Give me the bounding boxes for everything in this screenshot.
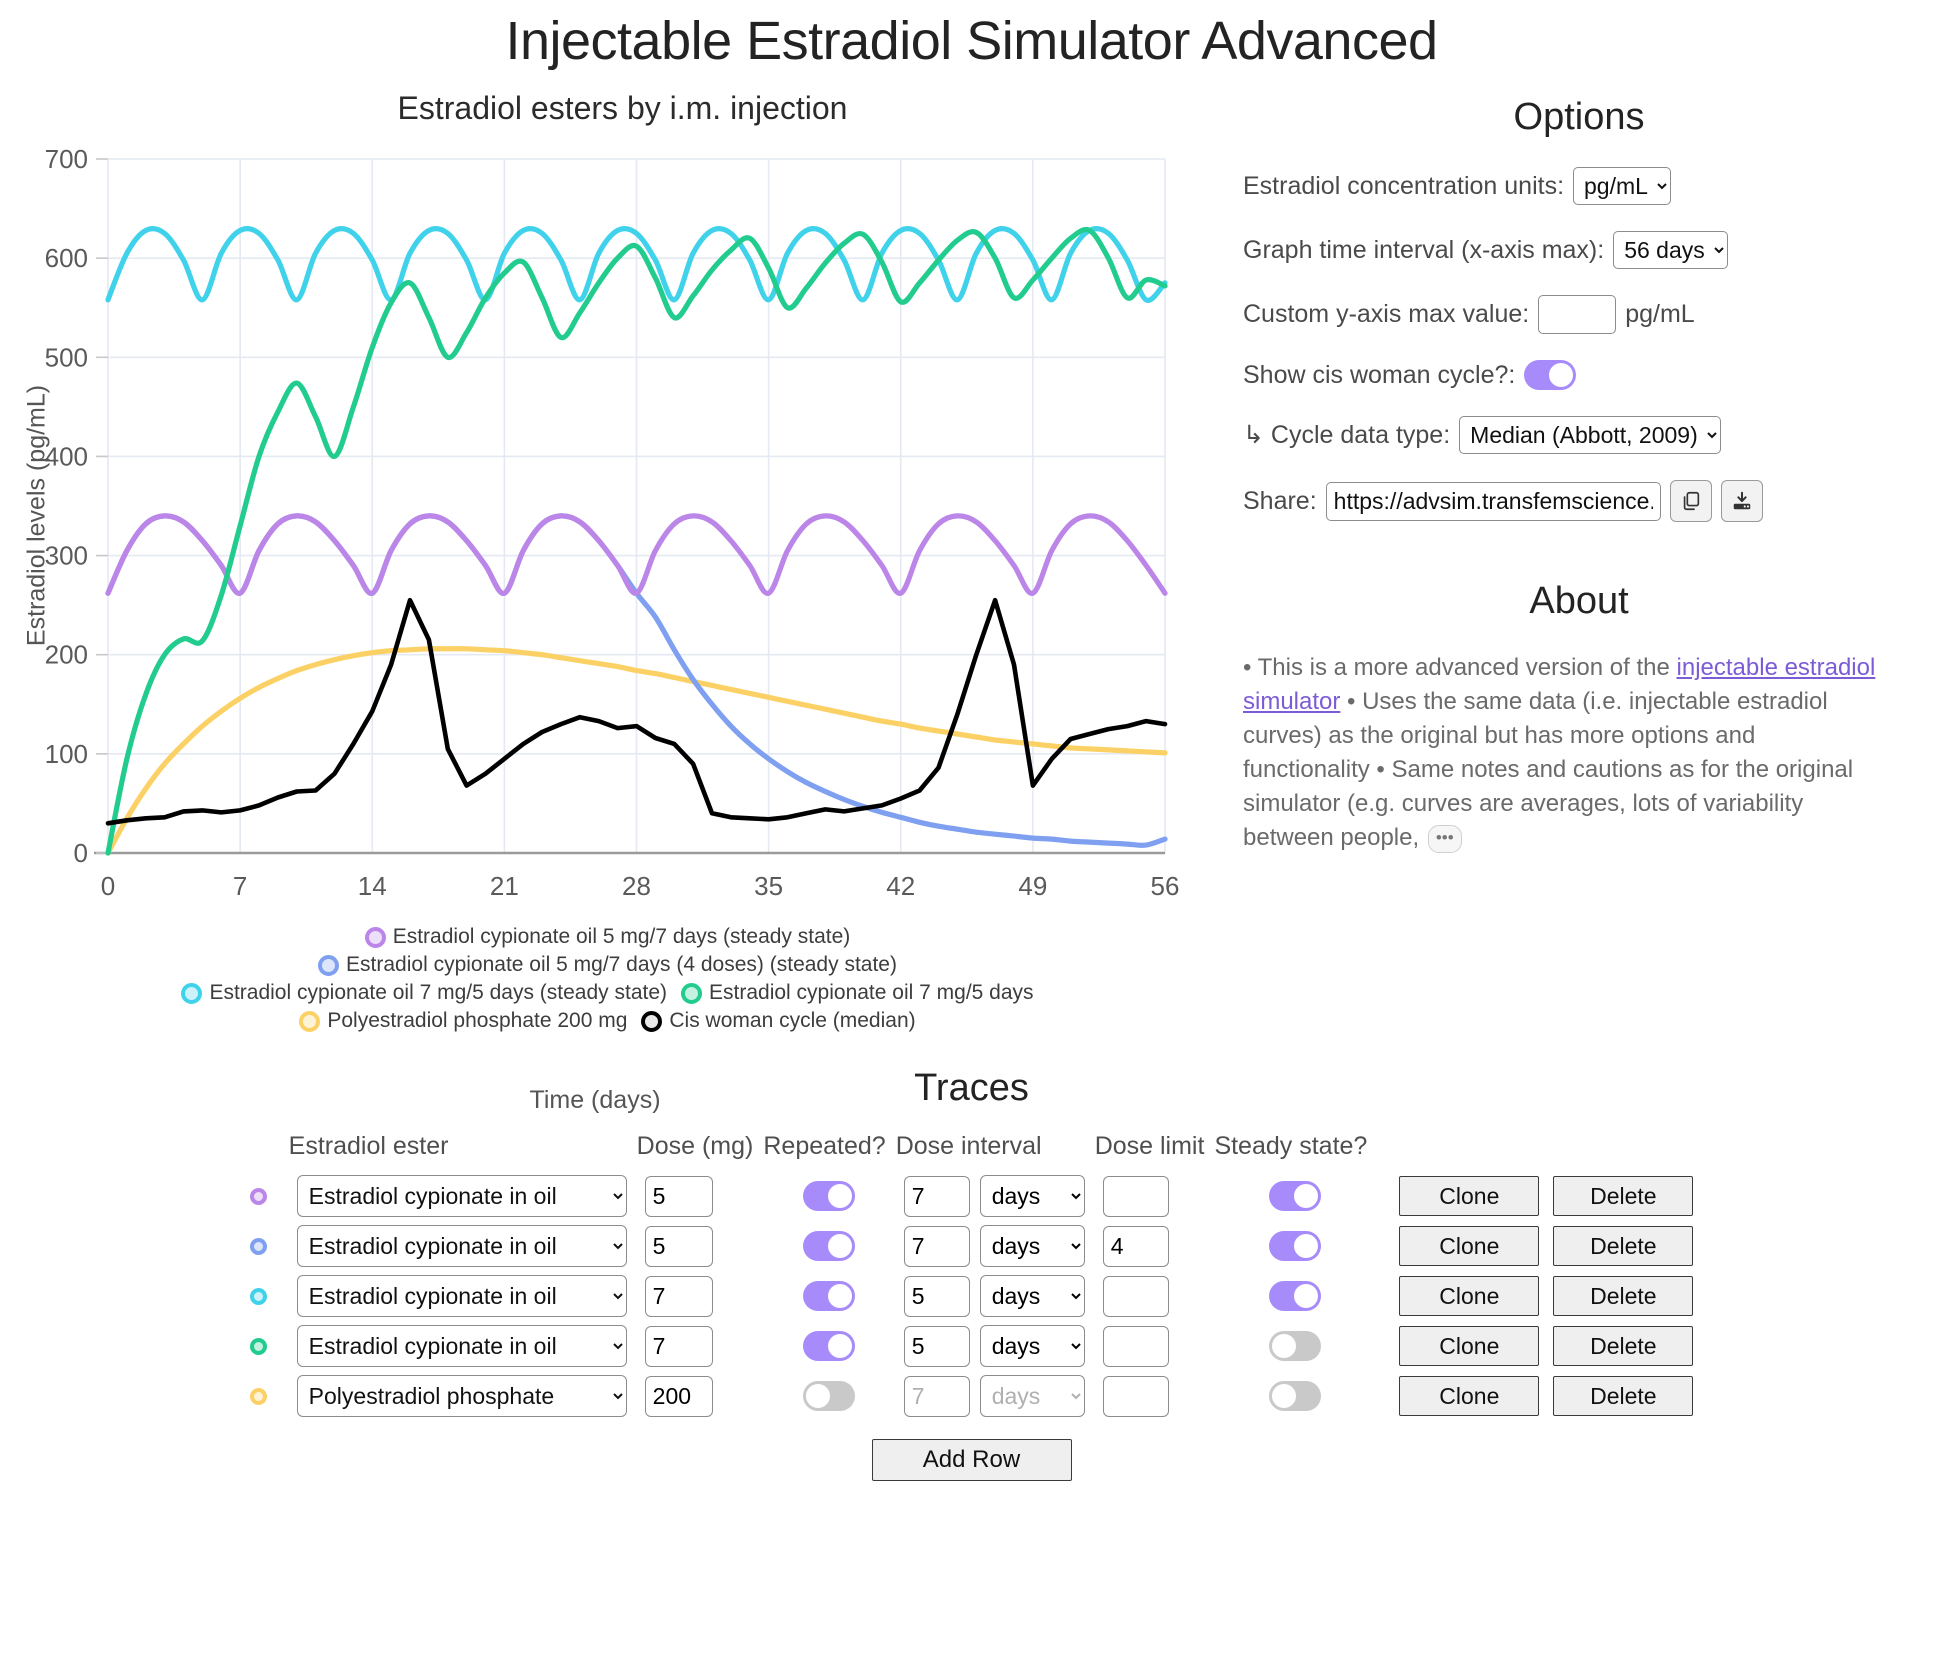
add-row-button[interactable]: Add Row xyxy=(872,1439,1072,1481)
interval-unit-cell: days xyxy=(970,1321,1085,1371)
clone-button[interactable]: Clone xyxy=(1399,1326,1539,1366)
interval-input[interactable] xyxy=(904,1326,970,1367)
legend-label: Polyestradiol phosphate 200 mg xyxy=(327,1009,627,1033)
chart-legend: Estradiol cypionate oil 5 mg/7 days (ste… xyxy=(0,925,1215,1033)
trace-color-cell xyxy=(250,1221,279,1271)
options-heading: Options xyxy=(1215,96,1943,139)
ester-cell: Estradiol cypionate in oil xyxy=(279,1271,627,1321)
add-row-wrap: Add Row xyxy=(0,1439,1943,1481)
steady-state-toggle[interactable] xyxy=(1269,1181,1321,1211)
repeated-toggle[interactable] xyxy=(803,1281,855,1311)
ymax-row: Custom y-axis max value: pg/mL xyxy=(1215,295,1943,334)
copy-icon[interactable] xyxy=(1670,480,1712,522)
interval-cell xyxy=(886,1271,970,1321)
units-select[interactable]: pg/mL xyxy=(1573,167,1671,205)
dose-input[interactable] xyxy=(645,1376,713,1417)
options-panel: Options Estradiol concentration units: p… xyxy=(1215,72,1943,855)
steady-state-toggle[interactable] xyxy=(1269,1381,1321,1411)
interval-input xyxy=(904,1376,970,1417)
svg-text:56: 56 xyxy=(1151,871,1180,901)
th-ester: Estradiol ester xyxy=(279,1132,627,1171)
clone-cell: Clone xyxy=(1367,1371,1539,1421)
dose-limit-input[interactable] xyxy=(1103,1176,1169,1217)
time-interval-row: Graph time interval (x-axis max): 56 day… xyxy=(1215,231,1943,269)
trace-color-dot xyxy=(250,1238,267,1255)
ester-cell: Estradiol cypionate in oil xyxy=(279,1221,627,1271)
svg-text:42: 42 xyxy=(886,871,915,901)
repeated-toggle[interactable] xyxy=(803,1331,855,1361)
legend-color-dot xyxy=(641,1011,662,1032)
table-row: Estradiol cypionate in oildaysCloneDelet… xyxy=(250,1221,1694,1271)
interval-cell xyxy=(886,1171,970,1221)
th-repeated: Repeated? xyxy=(753,1132,885,1171)
steady-cell xyxy=(1204,1171,1367,1221)
interval-unit-select[interactable]: days xyxy=(980,1275,1085,1317)
svg-text:35: 35 xyxy=(754,871,783,901)
legend-item[interactable]: Estradiol cypionate oil 7 mg/5 days (ste… xyxy=(181,981,667,1005)
trace-color-dot xyxy=(250,1388,267,1405)
repeated-cell xyxy=(753,1371,885,1421)
interval-unit-cell: days xyxy=(970,1221,1085,1271)
chart-area: 01002003004005006007000714212835424956 E… xyxy=(0,131,1215,921)
th-steady: Steady state? xyxy=(1204,1132,1367,1171)
interval-unit-select: days xyxy=(980,1375,1085,1417)
legend-color-dot xyxy=(181,983,202,1004)
th-dose: Dose (mg) xyxy=(627,1132,754,1171)
clone-button[interactable]: Clone xyxy=(1399,1376,1539,1416)
interval-cell xyxy=(886,1321,970,1371)
share-row: Share: xyxy=(1215,480,1943,522)
page-title: Injectable Estradiol Simulator Advanced xyxy=(0,10,1943,72)
legend-label: Cis woman cycle (median) xyxy=(669,1009,915,1033)
main-content: Estradiol esters by i.m. injection 01002… xyxy=(0,72,1943,1037)
interval-input[interactable] xyxy=(904,1176,970,1217)
clone-cell: Clone xyxy=(1367,1321,1539,1371)
dose-limit-input[interactable] xyxy=(1103,1276,1169,1317)
ymax-unit: pg/mL xyxy=(1625,300,1694,329)
delete-button[interactable]: Delete xyxy=(1553,1326,1693,1366)
delete-button[interactable]: Delete xyxy=(1553,1376,1693,1416)
interval-unit-select[interactable]: days xyxy=(980,1325,1085,1367)
traces-header-row: Estradiol ester Dose (mg) Repeated? Dose… xyxy=(250,1132,1694,1171)
time-interval-select[interactable]: 56 days xyxy=(1613,231,1728,269)
ester-cell: Polyestradiol phosphate xyxy=(279,1371,627,1421)
y-axis-label: Estradiol levels (pg/mL) xyxy=(23,351,52,681)
clone-cell: Clone xyxy=(1367,1171,1539,1221)
svg-text:700: 700 xyxy=(45,144,88,174)
dose-cell xyxy=(627,1171,754,1221)
units-label: Estradiol concentration units: xyxy=(1243,172,1564,201)
dose-limit-input[interactable] xyxy=(1103,1326,1169,1367)
trace-color-dot xyxy=(250,1188,267,1205)
interval-unit-select[interactable]: days xyxy=(980,1175,1085,1217)
th-actions-spacer2 xyxy=(1539,1132,1693,1171)
ester-select[interactable]: Estradiol cypionate in oil xyxy=(297,1325,627,1367)
share-url-input[interactable] xyxy=(1326,482,1661,521)
interval-unit-cell: days xyxy=(970,1171,1085,1221)
dose-input[interactable] xyxy=(645,1276,713,1317)
download-icon[interactable] xyxy=(1721,480,1763,522)
delete-cell: Delete xyxy=(1539,1271,1693,1321)
table-row: Polyestradiol phosphatedaysCloneDelete xyxy=(250,1371,1694,1421)
traces-table-body: Estradiol cypionate in oildaysCloneDelet… xyxy=(250,1171,1694,1421)
repeated-cell xyxy=(753,1271,885,1321)
interval-unit-select[interactable]: days xyxy=(980,1225,1085,1267)
estradiol-line-chart: 01002003004005006007000714212835424956 xyxy=(0,131,1190,931)
trace-color-dot xyxy=(250,1338,267,1355)
th-interval: Dose interval xyxy=(886,1132,1085,1171)
steady-cell xyxy=(1204,1321,1367,1371)
dose-input[interactable] xyxy=(645,1326,713,1367)
interval-unit-cell: days xyxy=(970,1371,1085,1421)
cycle-type-row: ↳ Cycle data type: Median (Abbott, 2009) xyxy=(1215,416,1943,454)
delete-button[interactable]: Delete xyxy=(1553,1176,1693,1216)
ester-select[interactable]: Polyestradiol phosphate xyxy=(297,1375,627,1417)
cycle-type-label: ↳ Cycle data type: xyxy=(1243,420,1450,450)
repeated-toggle[interactable] xyxy=(803,1381,855,1411)
legend-label: Estradiol cypionate oil 7 mg/5 days (ste… xyxy=(209,981,667,1005)
trace-color-cell xyxy=(250,1371,279,1421)
repeated-cell xyxy=(753,1221,885,1271)
legend-item[interactable]: Polyestradiol phosphate 200 mg xyxy=(299,1009,627,1033)
svg-text:28: 28 xyxy=(622,871,651,901)
ester-select[interactable]: Estradiol cypionate in oil xyxy=(297,1175,627,1217)
steady-cell xyxy=(1204,1371,1367,1421)
about-text: • This is a more advanced version of the… xyxy=(1215,651,1905,855)
interval-input[interactable] xyxy=(904,1226,970,1267)
clone-button[interactable]: Clone xyxy=(1399,1176,1539,1216)
steady-state-toggle[interactable] xyxy=(1269,1281,1321,1311)
steady-cell xyxy=(1204,1271,1367,1321)
traces-panel: Traces Estradiol ester Dose (mg) Repeate… xyxy=(0,1067,1943,1481)
share-label: Share: xyxy=(1243,487,1317,516)
chart-title: Estradiol esters by i.m. injection xyxy=(0,90,1215,127)
legend-row: Estradiol cypionate oil 7 mg/5 days (ste… xyxy=(0,981,1215,1005)
dose-cell xyxy=(627,1321,754,1371)
limit-cell xyxy=(1085,1221,1205,1271)
cycle-type-select[interactable]: Median (Abbott, 2009) xyxy=(1459,416,1721,454)
clone-cell: Clone xyxy=(1367,1221,1539,1271)
interval-input[interactable] xyxy=(904,1276,970,1317)
legend-color-dot xyxy=(681,983,702,1004)
limit-cell xyxy=(1085,1271,1205,1321)
dose-input[interactable] xyxy=(645,1176,713,1217)
th-actions-spacer xyxy=(1367,1132,1539,1171)
x-axis-label: Time (days) xyxy=(0,1086,1190,1115)
legend-item[interactable]: Estradiol cypionate oil 7 mg/5 days xyxy=(681,981,1034,1005)
svg-text:21: 21 xyxy=(490,871,519,901)
ester-select[interactable]: Estradiol cypionate in oil xyxy=(297,1275,627,1317)
delete-button[interactable]: Delete xyxy=(1553,1226,1693,1266)
dose-cell xyxy=(627,1271,754,1321)
clone-button[interactable]: Clone xyxy=(1399,1276,1539,1316)
delete-button[interactable]: Delete xyxy=(1553,1276,1693,1316)
dose-limit-input[interactable] xyxy=(1103,1226,1169,1267)
traces-table: Estradiol ester Dose (mg) Repeated? Dose… xyxy=(250,1132,1694,1421)
cycle-toggle-row: Show cis woman cycle?: xyxy=(1215,360,1943,390)
steady-state-toggle[interactable] xyxy=(1269,1231,1321,1261)
ymax-label: Custom y-axis max value: xyxy=(1243,300,1529,329)
legend-color-dot xyxy=(299,1011,320,1032)
chart-panel: Estradiol esters by i.m. injection 01002… xyxy=(0,72,1215,1037)
limit-cell xyxy=(1085,1171,1205,1221)
legend-item[interactable]: Estradiol cypionate oil 5 mg/7 days (4 d… xyxy=(318,953,897,977)
traces-table-head: Estradiol ester Dose (mg) Repeated? Dose… xyxy=(250,1132,1694,1171)
limit-cell xyxy=(1085,1371,1205,1421)
table-row: Estradiol cypionate in oildaysCloneDelet… xyxy=(250,1321,1694,1371)
about-heading: About xyxy=(1215,580,1943,623)
repeated-cell xyxy=(753,1171,885,1221)
ester-select[interactable]: Estradiol cypionate in oil xyxy=(297,1225,627,1267)
table-row: Estradiol cypionate in oildaysCloneDelet… xyxy=(250,1171,1694,1221)
limit-cell xyxy=(1085,1321,1205,1371)
repeated-toggle[interactable] xyxy=(803,1181,855,1211)
svg-text:600: 600 xyxy=(45,243,88,273)
repeated-cell xyxy=(753,1321,885,1371)
trace-color-cell xyxy=(250,1321,279,1371)
delete-cell: Delete xyxy=(1539,1321,1693,1371)
interval-unit-cell: days xyxy=(970,1271,1085,1321)
dose-input[interactable] xyxy=(645,1226,713,1267)
svg-text:100: 100 xyxy=(45,739,88,769)
interval-cell xyxy=(886,1221,970,1271)
legend-color-dot xyxy=(318,955,339,976)
about-expand-button[interactable]: ••• xyxy=(1428,825,1462,853)
interval-cell xyxy=(886,1371,970,1421)
trace-color-cell xyxy=(250,1271,279,1321)
svg-text:14: 14 xyxy=(358,871,387,901)
table-row: Estradiol cypionate in oildaysCloneDelet… xyxy=(250,1271,1694,1321)
dose-cell xyxy=(627,1371,754,1421)
ester-cell: Estradiol cypionate in oil xyxy=(279,1321,627,1371)
svg-text:0: 0 xyxy=(101,871,115,901)
steady-cell xyxy=(1204,1221,1367,1271)
svg-text:49: 49 xyxy=(1018,871,1047,901)
ymax-input[interactable] xyxy=(1538,295,1616,334)
svg-text:0: 0 xyxy=(74,838,88,868)
legend-label: Estradiol cypionate oil 5 mg/7 days (4 d… xyxy=(346,953,897,977)
dose-cell xyxy=(627,1221,754,1271)
time-interval-label: Graph time interval (x-axis max): xyxy=(1243,236,1604,265)
app-root: Injectable Estradiol Simulator Advanced … xyxy=(0,10,1943,1679)
units-row: Estradiol concentration units: pg/mL xyxy=(1215,167,1943,205)
th-spacer xyxy=(250,1132,279,1171)
delete-cell: Delete xyxy=(1539,1171,1693,1221)
th-limit: Dose limit xyxy=(1085,1132,1205,1171)
dose-limit-input[interactable] xyxy=(1103,1376,1169,1417)
legend-label: Estradiol cypionate oil 7 mg/5 days xyxy=(709,981,1034,1005)
cycle-toggle[interactable] xyxy=(1524,360,1576,390)
trace-color-cell xyxy=(250,1171,279,1221)
clone-button[interactable]: Clone xyxy=(1399,1226,1539,1266)
legend-row: Polyestradiol phosphate 200 mgCis woman … xyxy=(0,1009,1215,1033)
repeated-toggle[interactable] xyxy=(803,1231,855,1261)
delete-cell: Delete xyxy=(1539,1221,1693,1271)
trace-color-dot xyxy=(250,1288,267,1305)
legend-row: Estradiol cypionate oil 5 mg/7 days (4 d… xyxy=(0,953,1215,977)
legend-item[interactable]: Cis woman cycle (median) xyxy=(641,1009,915,1033)
steady-state-toggle[interactable] xyxy=(1269,1331,1321,1361)
about-text-part1: • This is a more advanced version of the xyxy=(1243,654,1677,681)
ester-cell: Estradiol cypionate in oil xyxy=(279,1171,627,1221)
delete-cell: Delete xyxy=(1539,1371,1693,1421)
clone-cell: Clone xyxy=(1367,1271,1539,1321)
svg-text:7: 7 xyxy=(233,871,247,901)
cycle-toggle-label: Show cis woman cycle?: xyxy=(1243,361,1515,390)
